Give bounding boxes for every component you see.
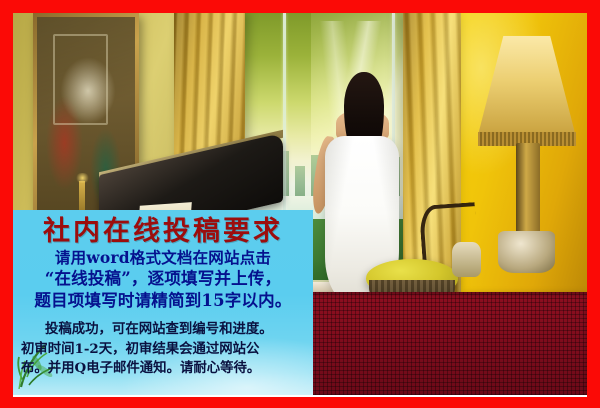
table-lamp-base: [498, 231, 555, 273]
red-carpet: [271, 292, 587, 395]
announcement-title: 社内在线投稿要求: [21, 217, 305, 246]
paragraph-1-line-1: 请用word格式文档在网站点击: [21, 248, 305, 268]
paragraph-2-line-1: 投稿成功，可在网站查到编号和进度。: [21, 320, 305, 340]
table-lamp-stem: [516, 143, 540, 235]
paragraph-2-line-2: 初审时间1-2天，初审结果会通过网站公: [21, 340, 305, 360]
bottom-highlight-line: [13, 395, 587, 397]
paragraph-1-line-2: “在线投稿”，逐项填写并上传，: [21, 268, 305, 289]
paragraph-2-line-3: 布。并用Q电子邮件通知。请耐心等待。: [21, 359, 305, 379]
announcement-paragraph-1: 请用word格式文档在网站点击 “在线投稿”，逐项填写并上传， 题目项填写时请精…: [21, 248, 305, 311]
decorative-vase: [452, 242, 481, 276]
room-photo-scene: 社内在线投稿要求 请用word格式文档在网站点击 “在线投稿”，逐项填写并上传，…: [13, 13, 587, 395]
announcement-paragraph-2: 投稿成功，可在网站查到编号和进度。 初审时间1-2天，初审结果会通过网站公 布。…: [21, 320, 305, 379]
announcement-panel: 社内在线投稿要求 请用word格式文档在网站点击 “在线投稿”，逐项填写并上传，…: [13, 210, 313, 395]
poster-frame: 社内在线投稿要求 请用word格式文档在网站点击 “在线投稿”，逐项填写并上传，…: [0, 0, 600, 408]
paragraph-1-line-3: 题目项填写时请精简到15字以内。: [21, 290, 305, 311]
